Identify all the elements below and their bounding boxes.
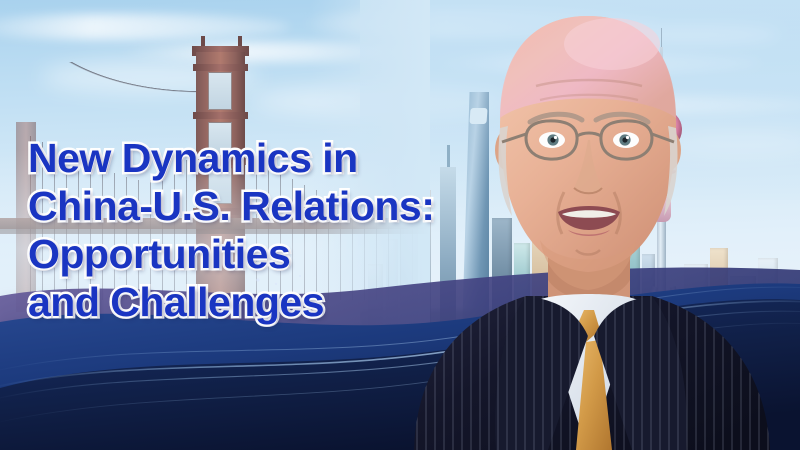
- title-line-2: China-U.S. Relations:: [28, 182, 448, 230]
- tower-crossbeam: [193, 64, 248, 71]
- title-line-1: New Dynamics in: [28, 134, 448, 182]
- tower-crossbeam: [193, 112, 248, 119]
- tower-portal: [208, 72, 232, 110]
- thumbnail-canvas: New Dynamics in China-U.S. Relations: Op…: [0, 0, 800, 450]
- title-line-4: and Challenges: [28, 278, 448, 326]
- title-line-3: Opportunities: [28, 230, 448, 278]
- video-title: New Dynamics in China-U.S. Relations: Op…: [28, 134, 448, 326]
